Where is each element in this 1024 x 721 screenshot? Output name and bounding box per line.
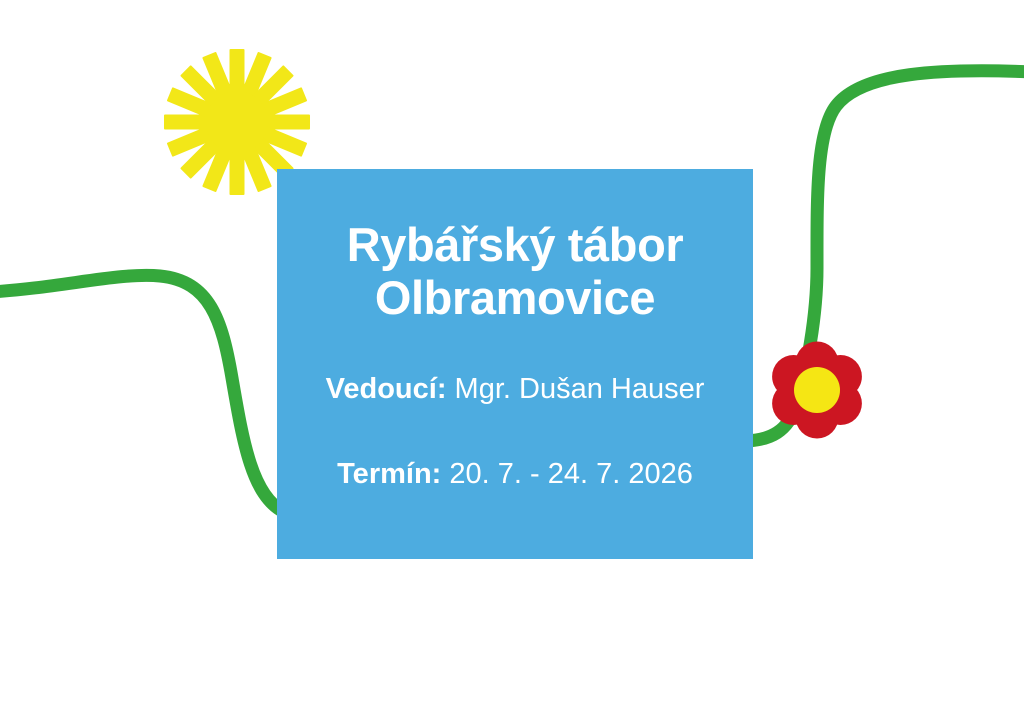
green-vine-right xyxy=(746,71,1024,441)
green-vine-left xyxy=(0,275,284,512)
term-label: Termín: xyxy=(337,458,441,490)
leader-value: Mgr. Dušan Hauser xyxy=(455,373,705,405)
term-value: 20. 7. - 24. 7. 2026 xyxy=(449,458,692,490)
term-line: Termín: 20. 7. - 24. 7. 2026 xyxy=(277,457,753,492)
info-card: Rybářský tábor Olbramovice Vedoucí: Mgr.… xyxy=(277,169,753,559)
card-title-line-2: Olbramovice xyxy=(277,272,753,325)
card-title-block: Rybářský tábor Olbramovice xyxy=(277,219,753,324)
card-title-line-1: Rybářský tábor xyxy=(277,219,753,272)
leader-line: Vedoucí: Mgr. Dušan Hauser xyxy=(277,372,753,407)
leader-label: Vedoucí: xyxy=(326,373,447,405)
poster-canvas: Rybářský tábor Olbramovice Vedoucí: Mgr.… xyxy=(0,0,1024,721)
